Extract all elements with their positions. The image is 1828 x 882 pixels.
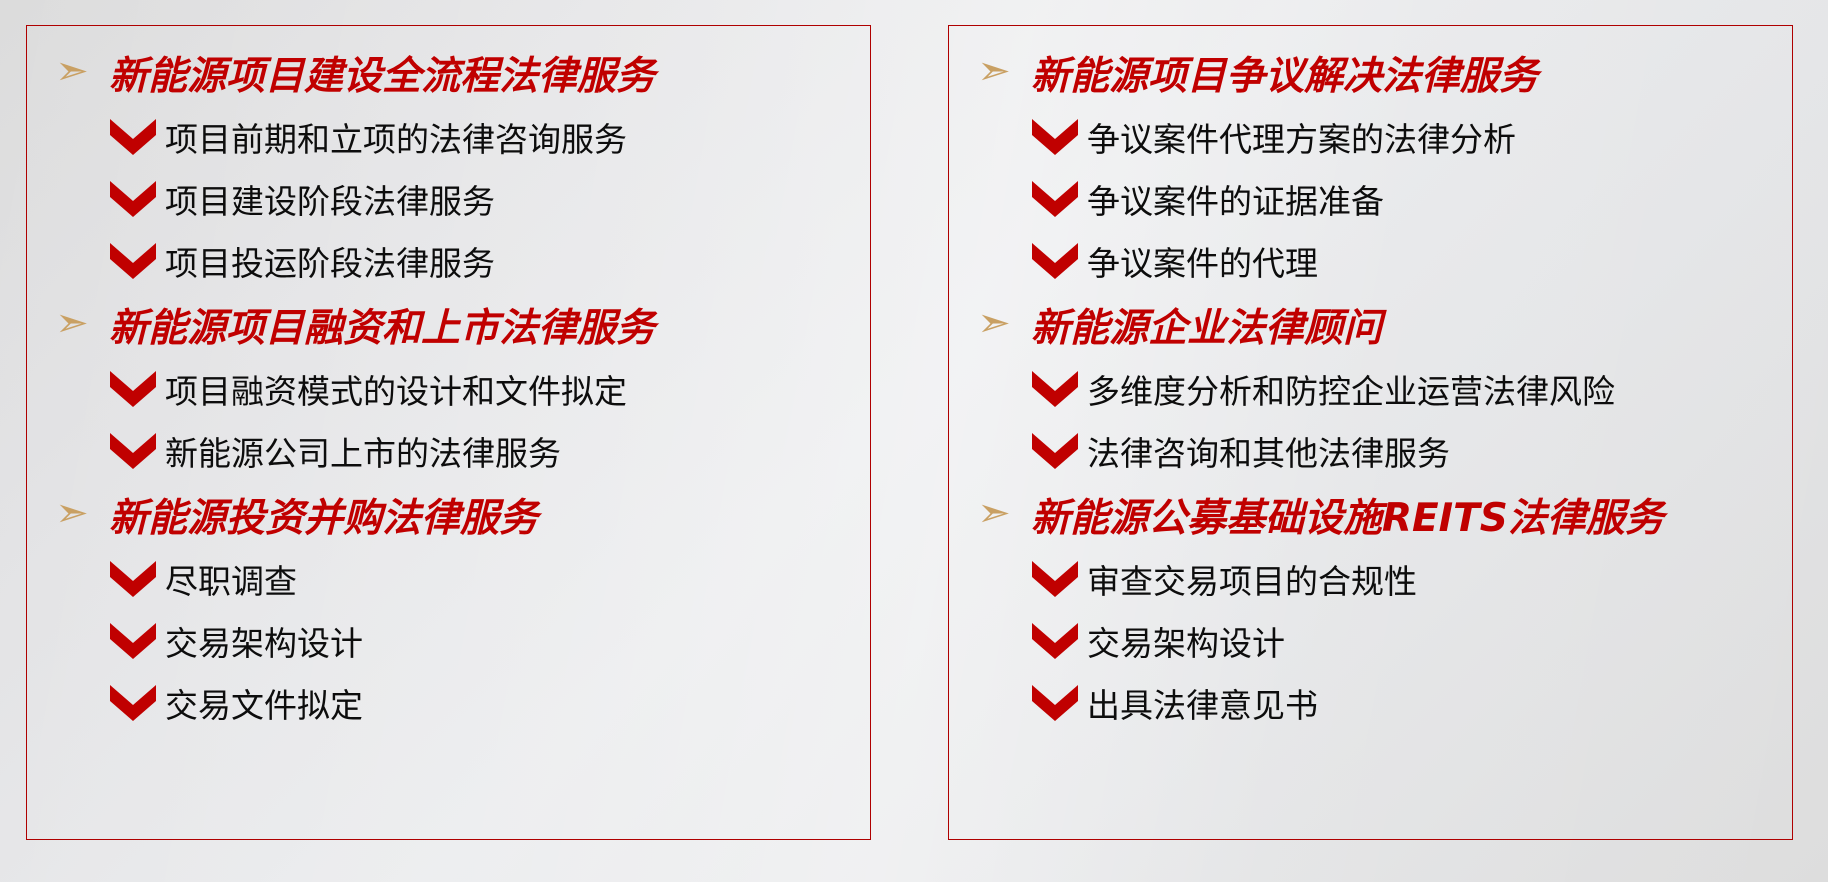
panel-left-content: ➣ 新能源项目建设全流程法律服务 项目前期和立项的法律咨询服务 <box>27 26 870 839</box>
red-chevron-bullet-icon <box>103 179 163 219</box>
panel-left: ➣ 新能源项目建设全流程法律服务 项目前期和立项的法律咨询服务 <box>26 25 871 840</box>
group-block: ➣ 新能源项目建设全流程法律服务 项目前期和立项的法律咨询服务 <box>35 40 862 292</box>
list-item-label: 项目前期和立项的法律咨询服务 <box>165 113 627 161</box>
list-item[interactable]: 交易架构设计 <box>35 610 862 672</box>
red-chevron-bullet-icon <box>1025 369 1085 409</box>
list-item[interactable]: 法律咨询和其他法律服务 <box>957 420 1784 482</box>
red-chevron-bullet-icon <box>103 369 163 409</box>
gold-arrow-bullet-icon: ➣ <box>957 493 1031 533</box>
group-block: ➣ 新能源公募基础设施REITS法律服务 审查交易项目的合规性 <box>957 482 1784 734</box>
group-title: 新能源项目融资和上市法律服务 <box>109 297 655 353</box>
list-item[interactable]: 交易架构设计 <box>957 610 1784 672</box>
group-block: ➣ 新能源项目争议解决法律服务 争议案件代理方案的法律分析 <box>957 40 1784 292</box>
gold-arrow-bullet-icon: ➣ <box>957 51 1031 91</box>
group-block: ➣ 新能源项目融资和上市法律服务 项目融资模式的设计和文件拟定 <box>35 292 862 482</box>
red-chevron-bullet-icon <box>103 117 163 157</box>
panel-right-content: ➣ 新能源项目争议解决法律服务 争议案件代理方案的法律分析 <box>949 26 1792 839</box>
group-title: 新能源项目建设全流程法律服务 <box>109 45 655 101</box>
group-heading[interactable]: ➣ 新能源项目建设全流程法律服务 <box>35 40 862 106</box>
gold-arrow-bullet-icon: ➣ <box>957 303 1031 343</box>
list-item-label: 法律咨询和其他法律服务 <box>1087 427 1450 475</box>
group-block: ➣ 新能源企业法律顾问 多维度分析和防控企业运营法律风险 <box>957 292 1784 482</box>
list-item-label: 多维度分析和防控企业运营法律风险 <box>1087 365 1615 413</box>
red-chevron-bullet-icon <box>1025 241 1085 281</box>
panel-right: ➣ 新能源项目争议解决法律服务 争议案件代理方案的法律分析 <box>948 25 1793 840</box>
group-heading[interactable]: ➣ 新能源项目融资和上市法律服务 <box>35 292 862 358</box>
list-item-label: 交易文件拟定 <box>165 679 363 727</box>
list-item[interactable]: 出具法律意见书 <box>957 672 1784 734</box>
red-chevron-bullet-icon <box>1025 621 1085 661</box>
list-item-label: 争议案件的代理 <box>1087 237 1318 285</box>
group-title: 新能源项目争议解决法律服务 <box>1031 45 1538 101</box>
list-item[interactable]: 尽职调查 <box>35 548 862 610</box>
red-chevron-bullet-icon <box>103 431 163 471</box>
group-heading[interactable]: ➣ 新能源项目争议解决法律服务 <box>957 40 1784 106</box>
gold-arrow-bullet-icon: ➣ <box>35 51 109 91</box>
list-item-label: 交易架构设计 <box>1087 617 1285 665</box>
red-chevron-bullet-icon <box>103 241 163 281</box>
group-title: 新能源企业法律顾问 <box>1031 297 1382 353</box>
group-block: ➣ 新能源投资并购法律服务 尽职调查 <box>35 482 862 734</box>
list-item[interactable]: 项目投运阶段法律服务 <box>35 230 862 292</box>
list-item-label: 新能源公司上市的法律服务 <box>165 427 561 475</box>
list-item[interactable]: 新能源公司上市的法律服务 <box>35 420 862 482</box>
red-chevron-bullet-icon <box>1025 559 1085 599</box>
list-item[interactable]: 项目融资模式的设计和文件拟定 <box>35 358 862 420</box>
list-item-label: 尽职调查 <box>165 555 297 603</box>
list-item-label: 项目融资模式的设计和文件拟定 <box>165 365 627 413</box>
list-item[interactable]: 争议案件的证据准备 <box>957 168 1784 230</box>
list-item-label: 争议案件的证据准备 <box>1087 175 1384 223</box>
group-heading[interactable]: ➣ 新能源公募基础设施REITS法律服务 <box>957 482 1784 548</box>
list-item-label: 交易架构设计 <box>165 617 363 665</box>
list-item-label: 项目投运阶段法律服务 <box>165 237 495 285</box>
red-chevron-bullet-icon <box>1025 683 1085 723</box>
gold-arrow-bullet-icon: ➣ <box>35 493 109 533</box>
red-chevron-bullet-icon <box>1025 431 1085 471</box>
group-heading[interactable]: ➣ 新能源企业法律顾问 <box>957 292 1784 358</box>
list-item-label: 争议案件代理方案的法律分析 <box>1087 113 1516 161</box>
list-item-label: 项目建设阶段法律服务 <box>165 175 495 223</box>
list-item[interactable]: 争议案件代理方案的法律分析 <box>957 106 1784 168</box>
group-title: 新能源公募基础设施REITS法律服务 <box>1031 487 1664 543</box>
red-chevron-bullet-icon <box>103 683 163 723</box>
list-item[interactable]: 项目前期和立项的法律咨询服务 <box>35 106 862 168</box>
red-chevron-bullet-icon <box>1025 179 1085 219</box>
list-item-label: 审查交易项目的合规性 <box>1087 555 1417 603</box>
list-item-label: 出具法律意见书 <box>1087 679 1318 727</box>
red-chevron-bullet-icon <box>1025 117 1085 157</box>
gold-arrow-bullet-icon: ➣ <box>35 303 109 343</box>
list-item[interactable]: 交易文件拟定 <box>35 672 862 734</box>
list-item[interactable]: 多维度分析和防控企业运营法律风险 <box>957 358 1784 420</box>
red-chevron-bullet-icon <box>103 559 163 599</box>
group-title: 新能源投资并购法律服务 <box>109 487 538 543</box>
red-chevron-bullet-icon <box>103 621 163 661</box>
list-item[interactable]: 审查交易项目的合规性 <box>957 548 1784 610</box>
list-item[interactable]: 争议案件的代理 <box>957 230 1784 292</box>
slide-canvas: ➣ 新能源项目建设全流程法律服务 项目前期和立项的法律咨询服务 <box>0 0 1828 882</box>
group-heading[interactable]: ➣ 新能源投资并购法律服务 <box>35 482 862 548</box>
list-item[interactable]: 项目建设阶段法律服务 <box>35 168 862 230</box>
